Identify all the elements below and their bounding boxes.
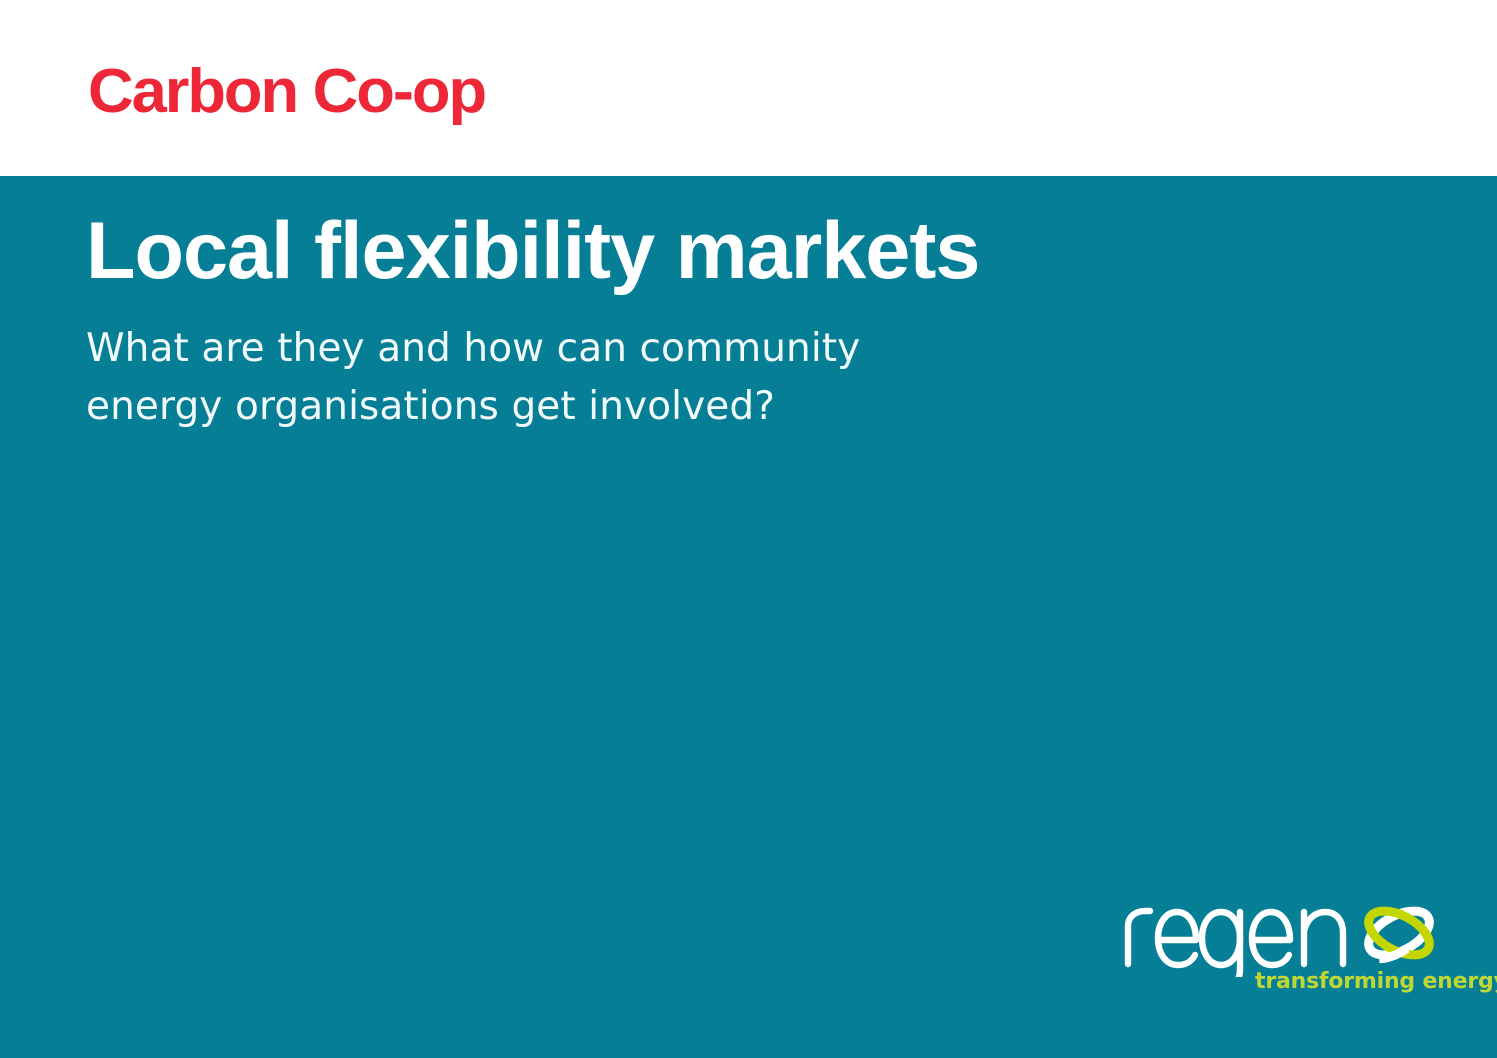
regen-tagline: transforming energy [1255, 969, 1497, 995]
header-band: Carbon Co-op [0, 0, 1497, 176]
page-title: Local flexibility markets [86, 208, 1186, 294]
regen-wordmark-icon [1122, 893, 1362, 977]
regen-orbit-mark-icon [1360, 899, 1438, 967]
regen-logo: transforming energy [1122, 893, 1452, 1003]
title-block: Local flexibility markets What are they … [86, 208, 1186, 436]
presentation-slide: Carbon Co-op Local flexibility markets W… [0, 0, 1497, 1058]
carbon-coop-logo: Carbon Co-op [88, 56, 485, 128]
page-subtitle: What are they and how can community ener… [86, 294, 1186, 436]
